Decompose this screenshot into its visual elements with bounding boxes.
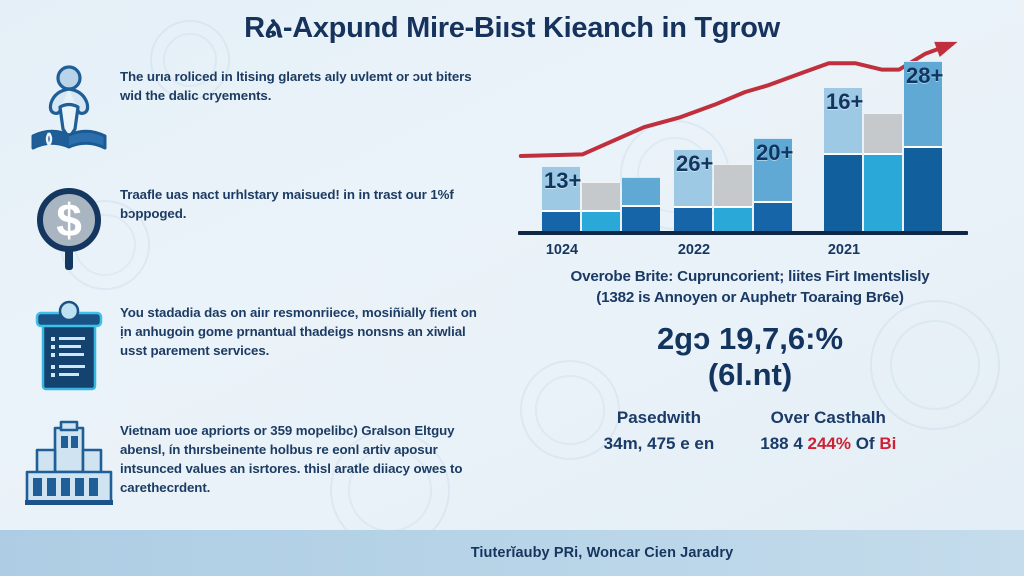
person-on-book-icon	[18, 58, 120, 162]
x-tick-label: 1024	[502, 242, 622, 258]
government-building-icon	[18, 412, 120, 516]
caption-line-1: Overobe Brite: Cupruncorient; liites Fir…	[490, 266, 1010, 287]
bar-segment-bottom	[674, 206, 712, 234]
stat-column: Pasedwith 34m, 475 e en	[604, 408, 715, 454]
x-tick-label: 2022	[634, 242, 754, 258]
caption-line-2: (1382 is Annoyen or Auphetr Toaraing Br6…	[490, 287, 1010, 308]
bar[interactable]	[864, 113, 902, 234]
dollar-magnifier-icon: $	[18, 176, 120, 280]
bar-segment-bottom	[754, 201, 792, 234]
stat-value-accent: 244%	[808, 434, 851, 453]
bar-segment-bottom	[904, 146, 942, 234]
bar-group: 26+20+	[674, 50, 792, 234]
bar[interactable]	[582, 182, 620, 234]
bar-value-label: 13+	[544, 168, 581, 194]
stat-heading: Over Casthalh	[760, 408, 896, 428]
chart-caption: Overobe Brite: Cupruncorient; liites Fir…	[490, 266, 1010, 309]
stat-value-prefix: 188 4	[760, 434, 807, 453]
footer-text: Tiuterĭauby PRi, Woncar Cien Jaradry	[471, 545, 734, 561]
x-axis-line	[518, 231, 968, 235]
stat-columns: Pasedwith 34m, 475 e en Over Casthalh 18…	[490, 408, 1010, 454]
stat-value-accent-2: Bi	[879, 434, 896, 453]
bar-chart: 13+26+20+16+28+ 102420222021	[504, 50, 974, 260]
x-tick-label: 2021	[784, 242, 904, 258]
infographic-poster: Rል-Axpund Mire-Biıst Kieanch in Tgrow	[0, 0, 1024, 576]
bar-value-label: 20+	[756, 140, 793, 166]
bar-group: 13+	[542, 50, 660, 234]
stat-column: Over Casthalh 188 4 244% Of Bi	[760, 408, 896, 454]
page-title: Rል-Axpund Mire-Biıst Kieanch in Tgrow	[0, 12, 1024, 45]
bar-segment-bottom	[824, 153, 862, 234]
list-item: Vietnam uoe apriorts or 359 mopelibc) Gr…	[18, 412, 488, 516]
bar-segment-bottom	[714, 206, 752, 234]
stat-value-suffix: Of	[851, 434, 879, 453]
bar[interactable]	[714, 164, 752, 234]
bar-segment-bottom	[622, 205, 660, 234]
stat-value: 34m, 475 e en	[604, 434, 715, 454]
bar[interactable]: 26+	[674, 149, 712, 234]
plot-area: 13+26+20+16+28+	[524, 50, 964, 234]
list-item: The urıa roliced in ltising glarets aıly…	[18, 58, 488, 162]
bar[interactable]: 28+	[904, 61, 942, 234]
chart-and-stats-panel: 13+26+20+16+28+ 102420222021 Overobe Bri…	[490, 50, 1010, 454]
list-item-text: Vietnam uoe apriorts or 359 mopelibc) Gr…	[120, 412, 488, 498]
bar-value-label: 28+	[906, 63, 943, 89]
list-item-text: Traafle uas nact urhlstary maisued! in i…	[120, 176, 488, 224]
list-item-text: You stadadia das on aiır resmonriiece, m…	[120, 294, 488, 361]
list-item: $ Traafle uas nact urhlstary maisued! in…	[18, 176, 488, 280]
stat-value: 188 4 244% Of Bi	[760, 434, 896, 454]
bar[interactable]	[622, 177, 660, 234]
footer-bar: Tiuterĭauby PRi, Woncar Cien Jaradry	[0, 530, 1024, 576]
svg-text:$: $	[56, 194, 82, 246]
bar-value-label: 26+	[676, 151, 713, 177]
bar[interactable]: 20+	[754, 138, 792, 234]
list-item: You stadadia das on aiır resmonriiece, m…	[18, 294, 488, 398]
headline-stat-sub: (6l.nt)	[490, 357, 1010, 394]
bar[interactable]: 13+	[542, 166, 580, 234]
stat-heading: Pasedwith	[604, 408, 715, 428]
list-item-text: The urıa roliced in ltising glarets aıly…	[120, 58, 488, 106]
bar-value-label: 16+	[826, 89, 863, 115]
bar-segment-top	[622, 177, 660, 205]
bar[interactable]: 16+	[824, 87, 862, 234]
headline-stat: 2gɔ 19,7,6:%	[490, 321, 1010, 358]
bar-segment-top	[864, 113, 902, 153]
key-points-list: The urıa roliced in ltising glarets aıly…	[18, 58, 488, 530]
bar-segment-top	[582, 182, 620, 210]
clipboard-checklist-icon	[18, 294, 120, 398]
bar-segment-bottom	[864, 153, 902, 234]
bar-group: 16+28+	[824, 50, 942, 234]
bar-segment-top	[714, 164, 752, 206]
